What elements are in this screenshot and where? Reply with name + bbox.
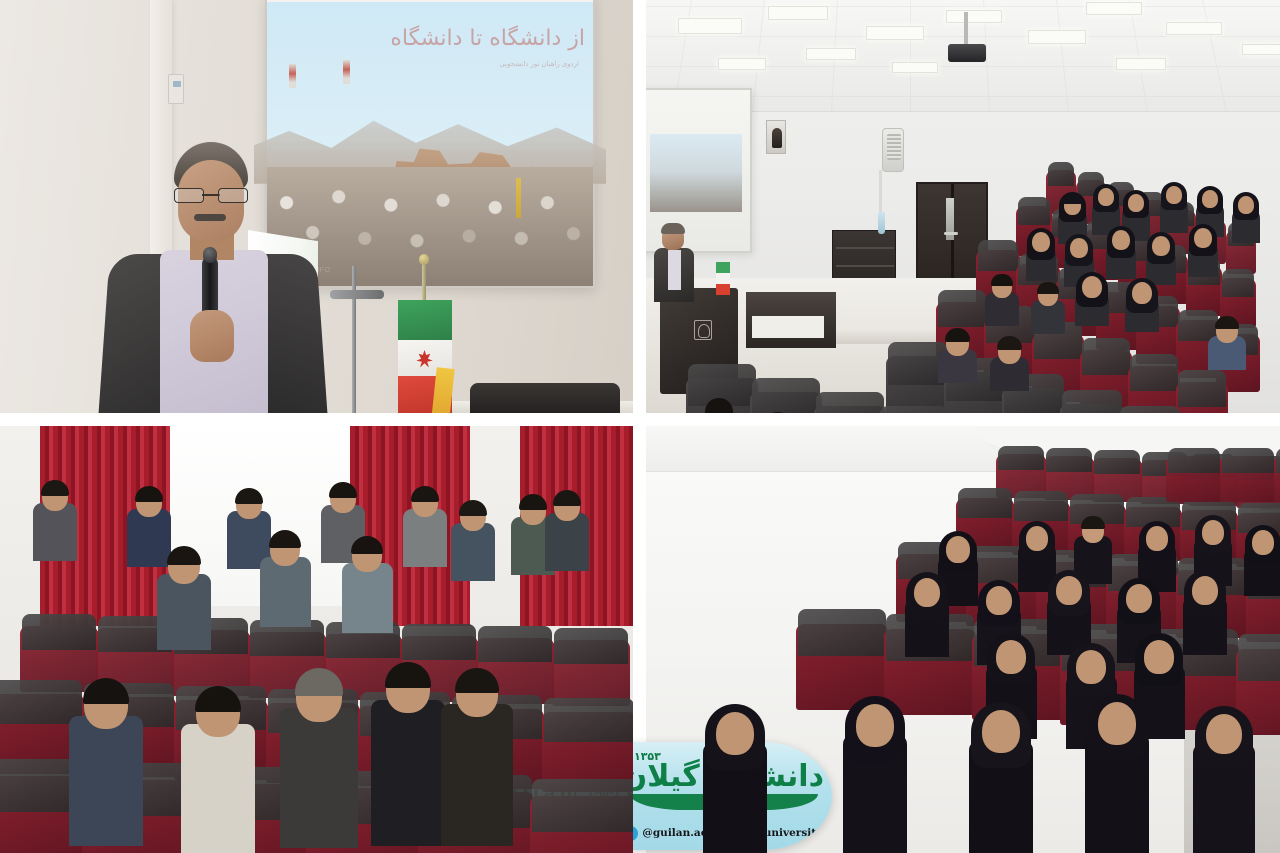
- ceiling-light-panel: [1116, 58, 1166, 70]
- chair: [470, 383, 620, 413]
- water-bottle: [878, 212, 885, 234]
- photo-collage: از دانشگاه تا دانشگاه اردوی راهیان نور د…: [0, 0, 1280, 853]
- theatre-seat-back: [1062, 390, 1122, 413]
- photo-speaker-at-podium: از دانشگاه تا دانشگاه اردوی راهیان نور د…: [0, 0, 633, 413]
- ceiling-projector: [948, 44, 986, 62]
- audience-head: [1076, 650, 1106, 684]
- slide-subtitle-text: اردوی راهیان نور دانشجویی: [399, 60, 579, 68]
- theatre-seat-back: [1120, 406, 1180, 413]
- ceiling-light-panel: [678, 18, 742, 34]
- audience-head: [1166, 186, 1182, 204]
- ceiling-light-panel: [1166, 22, 1222, 35]
- theatre-seat-back: [978, 240, 1018, 272]
- audience-head: [1146, 526, 1168, 551]
- audience-hair: [991, 274, 1013, 286]
- ceiling-grid-line: [646, 6, 1280, 7]
- audience-hair: [1037, 282, 1059, 294]
- photo-auditorium-wide: [646, 0, 1280, 413]
- audience-head: [1192, 576, 1218, 605]
- audience-head: [1238, 196, 1254, 214]
- ceiling-light-panel: [1028, 30, 1086, 44]
- audience-head: [856, 704, 894, 747]
- theatre-seat-back: [1222, 448, 1274, 473]
- slide-yellow-banner: [516, 178, 521, 218]
- flag-green-band: [398, 300, 452, 342]
- theatre-seat-back: [1276, 448, 1280, 473]
- speaker-shirt: [668, 250, 681, 290]
- theatre-seat-back: [1048, 162, 1074, 186]
- audience-head: [1070, 238, 1088, 258]
- audience-head: [1152, 236, 1170, 256]
- audience-head: [1202, 190, 1218, 208]
- door-handle[interactable]: [944, 232, 958, 235]
- ceiling-light-panel: [946, 10, 1002, 23]
- theatre-seat-back: [1178, 370, 1226, 407]
- theatre-seat-back: [22, 614, 96, 650]
- theatre-seat-back: [998, 446, 1044, 470]
- slide-flag-mid: [343, 60, 350, 84]
- theatre-seat-back: [958, 488, 1012, 518]
- leader-portrait: [766, 120, 786, 154]
- photo-male-audience: [0, 426, 633, 853]
- audience-body: [181, 724, 256, 853]
- speaker-person: [654, 226, 694, 300]
- audience-head: [982, 710, 1020, 753]
- audience-body: [69, 716, 144, 846]
- audience-body: [260, 557, 311, 627]
- slide-sky: [267, 2, 593, 150]
- theatre-seat-back: [1094, 450, 1140, 474]
- audience-body: [342, 563, 393, 633]
- ceiling-light-panel: [768, 6, 828, 20]
- ceiling-light-panel: [892, 62, 938, 73]
- theatre-seat-back: [1222, 269, 1254, 297]
- theatre-seat-back: [1014, 491, 1068, 521]
- audience-body: [441, 704, 512, 846]
- mic-stand-arm: [330, 290, 384, 299]
- audience-body: [280, 708, 358, 848]
- audience-head: [1202, 520, 1224, 545]
- audience-head: [946, 536, 970, 563]
- audience-head: [996, 640, 1026, 674]
- ceiling-light-panel: [1242, 44, 1280, 55]
- ceiling-light-panel: [718, 58, 766, 70]
- hand: [190, 310, 234, 362]
- audience-head: [986, 586, 1012, 615]
- flag-pole: [352, 266, 356, 413]
- audience-head: [1126, 584, 1152, 613]
- slide-title-text: از دانشگاه تا دانشگاه: [385, 26, 585, 60]
- ceiling-grid-line: [646, 36, 1280, 37]
- audience-body: [451, 523, 495, 581]
- stage-desk: [746, 292, 836, 348]
- theatre-seat-back: [880, 406, 948, 413]
- theatre-seat-back: [554, 628, 628, 664]
- speaker-head: [662, 226, 684, 250]
- audience-body: [127, 509, 171, 567]
- theatre-seat-back: [478, 626, 552, 662]
- audience-body: [157, 574, 211, 650]
- podium-emblem: [694, 320, 712, 340]
- theatre-seat-back: [532, 779, 633, 832]
- iranian-flag-pole: [422, 262, 426, 302]
- audience-head: [1056, 576, 1082, 605]
- iranian-flag-small: [716, 262, 730, 296]
- theatre-seat-back: [1130, 354, 1178, 391]
- theatre-seat-back: [798, 609, 886, 656]
- slide-flag-left: [289, 64, 296, 88]
- audience-body: [371, 700, 446, 846]
- audience-head: [1144, 640, 1174, 674]
- audience-head: [1098, 702, 1136, 745]
- moustache: [194, 214, 226, 221]
- audience-hair: [1081, 516, 1105, 529]
- theatre-seat-back: [1018, 197, 1050, 225]
- audience-head: [1026, 526, 1048, 551]
- theatre-seat-back: [816, 392, 884, 413]
- audience-head: [1194, 228, 1212, 248]
- audience-body: [403, 509, 447, 567]
- theatre-seat-back: [752, 378, 820, 413]
- audience-head: [1032, 232, 1050, 252]
- wall-speaker: [882, 128, 904, 172]
- photo-female-audience: [646, 426, 1280, 853]
- audience-hair: [1063, 194, 1082, 204]
- theatre-seat-back: [0, 680, 82, 724]
- theatre-seat-back: [402, 624, 476, 660]
- projected-image: [650, 134, 742, 212]
- projector-mount: [964, 12, 968, 46]
- audience-hair: [1215, 316, 1239, 329]
- audience-head: [716, 712, 754, 755]
- ceiling-light-panel: [806, 48, 856, 60]
- eyeglasses-icon: [174, 188, 248, 201]
- ceiling-light-panel: [1086, 2, 1142, 15]
- ceiling-light-panel: [866, 26, 924, 40]
- audience-head: [1252, 530, 1274, 555]
- wall-light-switch: [168, 74, 184, 104]
- audience-head: [1112, 230, 1130, 250]
- audience-head: [1098, 188, 1114, 206]
- audience-body: [33, 503, 77, 561]
- speaker-person: [86, 142, 326, 413]
- audience-head: [1128, 194, 1144, 212]
- audience-body: [545, 513, 589, 571]
- audience-head: [1206, 714, 1242, 754]
- iranian-flag: [398, 278, 452, 413]
- audience-head: [914, 578, 940, 607]
- theatre-seat-back: [544, 698, 633, 742]
- theatre-seat-back: [1168, 448, 1220, 473]
- audience-head: [1132, 282, 1152, 304]
- audience-head: [1082, 276, 1102, 298]
- theatre-seat-back: [1082, 338, 1130, 375]
- theatre-seat-back: [1238, 634, 1280, 681]
- theatre-seat-back: [938, 290, 986, 327]
- theatre-seat-back: [1046, 448, 1092, 472]
